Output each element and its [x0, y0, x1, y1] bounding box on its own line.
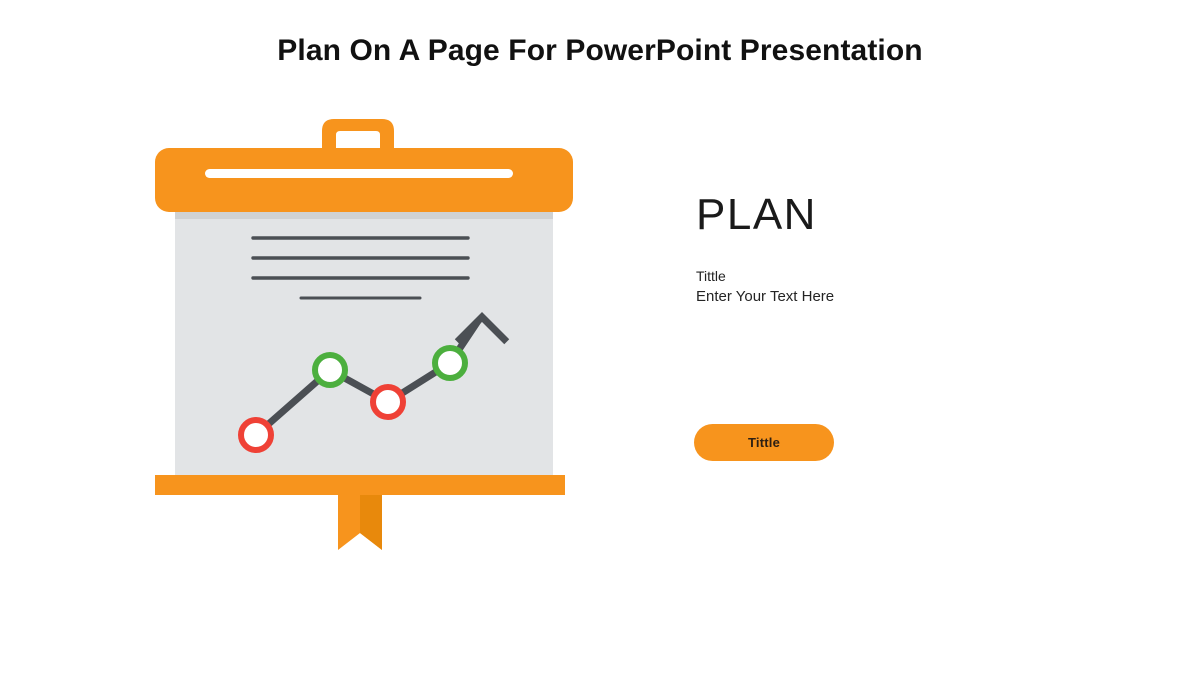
page-title: Plan On A Page For PowerPoint Presentati… [0, 32, 1200, 70]
description-subtitle: Tittle [696, 266, 996, 286]
board-slot-line [205, 169, 513, 178]
board-top-bar [155, 148, 573, 212]
description-block: Tittle Enter Your Text Here [696, 266, 996, 307]
chart-point-2 [315, 355, 345, 385]
tittle-button[interactable]: Tittle [694, 424, 834, 461]
chart-point-3 [373, 387, 403, 417]
plan-heading: PLAN [696, 192, 817, 238]
board-bottom-bar [155, 475, 565, 495]
description-body-text: Enter Your Text Here [696, 286, 996, 307]
board-panel [175, 205, 553, 483]
presentation-board-illustration [140, 105, 590, 565]
slide-canvas: Plan On A Page For PowerPoint Presentati… [0, 0, 1200, 675]
board-hook-icon [322, 119, 394, 153]
board-stand-leg [338, 490, 382, 550]
chart-point-4 [435, 348, 465, 378]
chart-point-1 [241, 420, 271, 450]
